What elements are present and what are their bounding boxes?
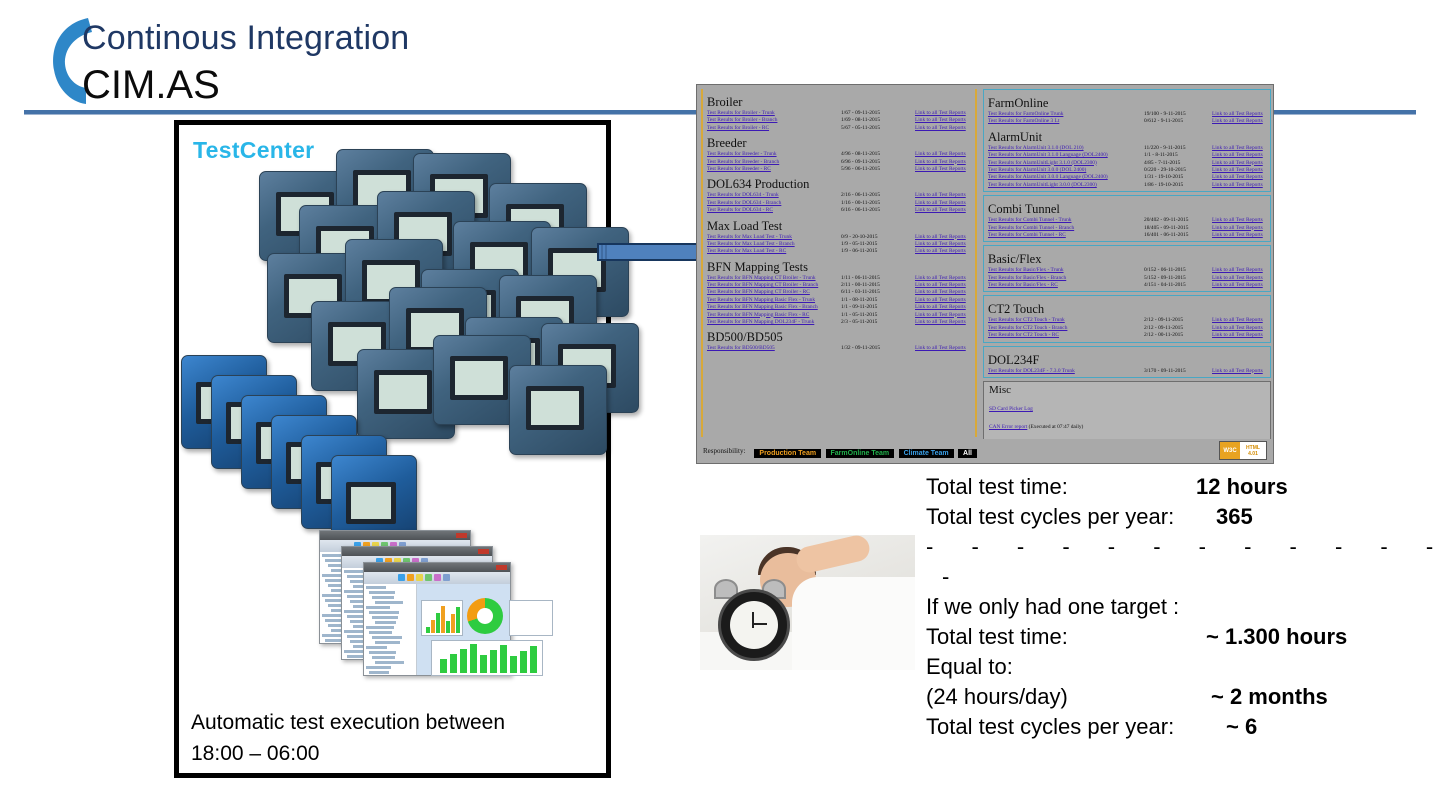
test-result-count: 1/31 - 19-10-2015 (1138, 174, 1212, 181)
report-section-title: DOL634 Production (707, 177, 971, 191)
report-row: Test Results for AlarmUnit 3.0.0 Languag… (988, 174, 1266, 181)
report-section-title: DOL234F (988, 353, 1266, 367)
test-result-count: 1/11 - 06-11-2015 (835, 275, 915, 282)
test-result-link[interactable]: Test Results for BFN Mapping DOL234F - T… (707, 319, 835, 326)
stat-row: (24 hours/day)~ 2 months (926, 682, 1426, 712)
chart-tile (421, 600, 463, 636)
all-reports-link[interactable]: Link to all Test Reports (1212, 368, 1263, 375)
all-reports-link[interactable]: Link to all Test Reports (1212, 332, 1263, 339)
test-result-count: 20/402 - 09-11-2015 (1138, 217, 1212, 224)
all-reports-link[interactable]: Link to all Test Reports (1212, 232, 1263, 239)
report-row: Test Results for Breeder - Trunk4/96 - 0… (707, 151, 971, 158)
test-result-count: 1/1 - 8-11-2015 (1138, 152, 1212, 159)
sleeper-arm (794, 535, 872, 575)
stats-bottom-rows: Total test time:~ 1.300 hoursEqual to:(2… (926, 622, 1426, 742)
test-result-link[interactable]: Test Results for Basic/Flex - Branch (988, 275, 1138, 282)
report-section-title: BFN Mapping Tests (707, 260, 971, 274)
bar-chart-tile (431, 640, 543, 676)
stat-value: ~ 6 (1226, 712, 1257, 742)
report-row: Test Results for DOL634 - RC6/16 - 06-11… (707, 207, 971, 214)
all-reports-link[interactable]: Link to all Test Reports (1212, 282, 1263, 289)
stat-label: Total test cycles per year: (926, 502, 1216, 532)
report-row: Test Results for DOL634 - Trunk2/16 - 06… (707, 192, 971, 199)
stat-label: (24 hours/day) (926, 682, 1211, 712)
stat-value: ~ 1.300 hours (1206, 622, 1347, 652)
dashboard-window (363, 562, 511, 676)
misc-row: CAN Error report (Executed at 07:47 dail… (989, 415, 1265, 433)
responsibility-tag-list: Production Team FarmOnline Team Climate … (754, 442, 977, 460)
stat-value: 12 hours (1196, 472, 1288, 502)
test-result-link[interactable]: Test Results for Broiler - Trunk (707, 110, 835, 117)
report-row: Test Results for BFN Mapping Basic Flex … (707, 312, 971, 319)
misc-link[interactable]: SD Card Picker Log (989, 406, 1033, 412)
test-result-link[interactable]: Test Results for DOL234F - 7.3.0 Trunk (988, 368, 1138, 375)
report-row: Test Results for BFN Mapping CT Broiler … (707, 275, 971, 282)
all-reports-link[interactable]: Link to all Test Reports (915, 166, 966, 173)
testcenter-panel: TestCenter Automatic test execution betw… (174, 120, 611, 778)
alarm-clock-icon (718, 589, 790, 661)
test-result-count: 0/152 - 06-11-2015 (1138, 267, 1212, 274)
report-row: Test Results for AlarmUnit 3.1.0 Languag… (988, 152, 1266, 159)
caption-line-1: Automatic test execution between (191, 707, 601, 738)
stat-value: ~ 2 months (1211, 682, 1328, 712)
test-result-count: 4/96 - 08-11-2015 (835, 151, 915, 158)
all-reports-link[interactable]: Link to all Test Reports (1212, 317, 1263, 324)
all-reports-link[interactable]: Link to all Test Reports (915, 125, 966, 132)
test-result-link[interactable]: Test Results for BFN Mapping Basic Flex … (707, 304, 835, 311)
all-reports-link[interactable]: Link to all Test Reports (915, 289, 966, 296)
test-result-count: 11/220 - 9-11-2015 (1138, 145, 1212, 152)
test-result-count: 18/405 - 09-11-2015 (1138, 225, 1212, 232)
responsibility-tag[interactable]: FarmOnline Team (826, 449, 895, 458)
report-right-column: FarmOnlineTest Results for FarmOnline Tr… (983, 89, 1271, 437)
test-result-link[interactable]: Test Results for Max Load Test - Trunk (707, 234, 835, 241)
stat-row: Total test time:12 hours (926, 472, 1426, 502)
test-result-count: 0/220 - 29-10-2015 (1138, 167, 1212, 174)
all-reports-link[interactable]: Link to all Test Reports (1212, 325, 1263, 332)
report-row: Test Results for Basic/Flex - Branch5/15… (988, 275, 1266, 282)
report-row: Test Results for AlarmUnitLight 3.0.0 (D… (988, 182, 1266, 189)
test-result-link[interactable]: Test Results for AlarmUnitLight 3.0.0 (D… (988, 182, 1138, 189)
report-row: Test Results for Max Load Test - RC1/9 -… (707, 248, 971, 255)
report-section-box: Combi TunnelTest Results for Combi Tunne… (983, 195, 1271, 242)
controller-device (509, 365, 607, 455)
test-result-link[interactable]: Test Results for FarmOnline Trunk (988, 111, 1138, 118)
all-reports-link[interactable]: Link to all Test Reports (1212, 167, 1263, 174)
stats-divider-2: - (926, 562, 1426, 592)
test-result-link[interactable]: Test Results for BFN Mapping Basic Flex … (707, 297, 835, 304)
test-result-link[interactable]: Test Results for AlarmUnitLight 3.1.0 (D… (988, 160, 1138, 167)
test-result-count: 1/1 - 05-11-2015 (835, 312, 915, 319)
report-row: Test Results for Max Load Test - Trunk0/… (707, 234, 971, 241)
w3c-badge-right: HTML 4.01 (1240, 442, 1266, 459)
report-row: Test Results for BFN Mapping CT Broiler … (707, 289, 971, 296)
report-row: Test Results for Breeder - RC5/96 - 06-1… (707, 166, 971, 173)
all-reports-link[interactable]: Link to all Test Reports (915, 234, 966, 241)
all-reports-link[interactable]: Link to all Test Reports (915, 319, 966, 326)
report-row: Test Results for Combi Tunnel - RC16/401… (988, 232, 1266, 239)
stat-label: Total test cycles per year: (926, 712, 1226, 742)
misc-title: Misc (989, 384, 1265, 397)
test-result-count: 0/9 - 20-10-2015 (835, 234, 915, 241)
report-row: Test Results for BFN Mapping Basic Flex … (707, 304, 971, 311)
test-result-link[interactable]: Test Results for AlarmUnit 3.0.0 Languag… (988, 174, 1138, 181)
report-row: Test Results for AlarmUnit 3.0.0 (DOL 24… (988, 167, 1266, 174)
test-result-link[interactable]: Test Results for BFN Mapping CT Broiler … (707, 289, 835, 296)
stat-label: Total test time: (926, 622, 1206, 652)
responsibility-label: Responsibility: (703, 447, 745, 455)
all-reports-link[interactable]: Link to all Test Reports (1212, 160, 1263, 167)
report-row: Test Results for BFN Mapping DOL234F - T… (707, 319, 971, 326)
report-section-title: Breeder (707, 136, 971, 150)
test-result-count: 4/85 - 7-11-2015 (1138, 160, 1212, 167)
test-result-count: 6/11 - 03-11-2015 (835, 289, 915, 296)
test-result-count: 1/86 - 19-10-2015 (1138, 182, 1212, 189)
report-row: Test Results for BD500/BD5051/32 - 09-11… (707, 345, 971, 352)
report-section-box: CT2 TouchTest Results for CT2 Touch - Tr… (983, 295, 1271, 342)
all-reports-link[interactable]: Link to all Test Reports (1212, 111, 1263, 118)
stat-value: 365 (1216, 502, 1253, 532)
report-section-box: FarmOnlineTest Results for FarmOnline Tr… (983, 89, 1271, 192)
test-result-link[interactable]: Test Results for BFN Mapping CT Broiler … (707, 282, 835, 289)
all-reports-link[interactable]: Link to all Test Reports (1212, 145, 1263, 152)
test-result-count: 1/9 - 06-11-2015 (835, 248, 915, 255)
clock-hand-minute (752, 612, 754, 628)
all-reports-link[interactable]: Link to all Test Reports (915, 207, 966, 214)
stat-label: Total test time: (926, 472, 1196, 502)
all-reports-link[interactable]: Link to all Test Reports (915, 241, 966, 248)
report-row: Test Results for Broiler - Trunk1/67 - 0… (707, 110, 971, 117)
test-result-link[interactable]: Test Results for DOL634 - Trunk (707, 192, 835, 199)
all-reports-link[interactable]: Link to all Test Reports (1212, 225, 1263, 232)
report-row: Test Results for Broiler - Branch1/69 - … (707, 117, 971, 124)
report-row: Test Results for Combi Tunnel - Trunk20/… (988, 217, 1266, 224)
all-reports-link[interactable]: Link to all Test Reports (915, 248, 966, 255)
test-result-link[interactable]: Test Results for BFN Mapping Basic Flex … (707, 312, 835, 319)
test-result-link[interactable]: Test Results for Broiler - Branch (707, 117, 835, 124)
report-row: Test Results for DOL234F - 7.3.0 Trunk3/… (988, 368, 1266, 375)
test-result-link[interactable]: Test Results for Combi Tunnel - Trunk (988, 217, 1138, 224)
test-result-count: 2/12 - 00-11-2015 (1138, 332, 1212, 339)
misc-link[interactable]: CAN Error report (989, 424, 1027, 430)
rack-of-controllers-photo (181, 143, 605, 533)
test-result-count: 2/12 - 09-11-2015 (1138, 325, 1212, 332)
report-row: Test Results for CT2 Touch - RC2/12 - 00… (988, 332, 1266, 339)
test-result-count: 5/67 - 05-11-2015 (835, 125, 915, 132)
report-row: Test Results for AlarmUnit 3.1.0 (DOL 21… (988, 145, 1266, 152)
test-result-link[interactable]: Test Results for Broiler - RC (707, 125, 835, 132)
test-result-link[interactable]: Test Results for Basic/Flex - Trunk (988, 267, 1138, 274)
test-result-count: 19/100 - 9-11-2015 (1138, 111, 1212, 118)
test-result-link[interactable]: Test Results for Max Load Test - RC (707, 248, 835, 255)
test-result-link[interactable]: Test Results for DOL634 - Branch (707, 200, 835, 207)
all-reports-link[interactable]: Link to all Test Reports (1212, 152, 1263, 159)
all-reports-link[interactable]: Link to all Test Reports (1212, 275, 1263, 282)
test-result-link[interactable]: Test Results for FarmOnline 3 Lt (988, 118, 1138, 125)
test-result-link[interactable]: Test Results for AlarmUnit 3.1.0 Languag… (988, 152, 1138, 159)
report-row: Test Results for BFN Mapping Basic Flex … (707, 297, 971, 304)
responsibility-tag[interactable]: Production Team (754, 449, 821, 458)
stats-intro: If we only had one target : (926, 592, 1426, 622)
report-row: Test Results for BFN Mapping CT Broiler … (707, 282, 971, 289)
test-result-count: 2/11 - 00-11-2015 (835, 282, 915, 289)
all-reports-link[interactable]: Link to all Test Reports (915, 192, 966, 199)
test-result-link[interactable]: Test Results for CT2 Touch - RC (988, 332, 1138, 339)
test-result-link[interactable]: Test Results for Combi Tunnel - Branch (988, 225, 1138, 232)
test-result-count: 2/3 - 05-11-2015 (835, 319, 915, 326)
report-row: Test Results for CT2 Touch - Branch2/12 … (988, 325, 1266, 332)
stats-divider: - - - - - - - - - - - - - - - - - (926, 532, 1426, 562)
report-row: Test Results for Basic/Flex - Trunk0/152… (988, 267, 1266, 274)
donut-chart (467, 598, 503, 634)
all-reports-link[interactable]: Link to all Test Reports (1212, 217, 1263, 224)
report-row: Test Results for FarmOnline Trunk19/100 … (988, 111, 1266, 118)
line-chart-tile (509, 600, 553, 636)
test-result-count: 1/1 - 09-11-2015 (835, 304, 915, 311)
all-reports-link[interactable]: Link to all Test Reports (915, 312, 966, 319)
all-reports-link[interactable]: Link to all Test Reports (915, 159, 966, 166)
test-result-count: 1/32 - 09-11-2015 (835, 345, 915, 352)
all-reports-link[interactable]: Link to all Test Reports (915, 304, 966, 311)
all-reports-link[interactable]: Link to all Test Reports (915, 200, 966, 207)
all-reports-link[interactable]: Link to all Test Reports (915, 110, 966, 117)
w3c-badge-left: W3C (1220, 442, 1240, 459)
test-result-count: 1/16 - 00-11-2015 (835, 200, 915, 207)
all-reports-link[interactable]: Link to all Test Reports (915, 151, 966, 158)
report-row: Test Results for DOL634 - Branch1/16 - 0… (707, 200, 971, 207)
report-section-title: FarmOnline (988, 96, 1266, 110)
report-section-title: Combi Tunnel (988, 202, 1266, 216)
report-row: Test Results for Broiler - RC5/67 - 05-1… (707, 125, 971, 132)
test-result-count: 0/612 - 9-11-2015 (1138, 118, 1212, 125)
test-result-count: 5/152 - 09-11-2015 (1138, 275, 1212, 282)
all-reports-link[interactable]: Link to all Test Reports (1212, 267, 1263, 274)
test-result-link[interactable]: Test Results for CT2 Touch - Trunk (988, 317, 1138, 324)
stats-block: Total test time:12 hoursTotal test cycle… (926, 472, 1426, 742)
report-row: Test Results for AlarmUnitLight 3.1.0 (D… (988, 160, 1266, 167)
test-result-count: 1/67 - 09-11-2015 (835, 110, 915, 117)
report-row: Test Results for Basic/Flex - RC4/151 - … (988, 282, 1266, 289)
all-reports-link[interactable]: Link to all Test Reports (1212, 182, 1263, 189)
stat-row: Equal to: (926, 652, 1426, 682)
stat-label: Equal to: (926, 652, 1206, 682)
report-row: Test Results for Max Load Test - Branch1… (707, 241, 971, 248)
test-result-count: 3/170 - 09-11-2015 (1138, 368, 1212, 375)
testcenter-caption: Automatic test execution between 18:00 –… (191, 707, 601, 769)
man-yawning-with-alarm-clock-photo (700, 535, 915, 670)
page-title: Continous Integration (82, 18, 409, 58)
test-result-link[interactable]: Test Results for CT2 Touch - Branch (988, 325, 1138, 332)
report-row: Test Results for CT2 Touch - Trunk2/12 -… (988, 317, 1266, 324)
report-row: Test Results for Breeder - Branch6/96 - … (707, 159, 971, 166)
stat-row: Total test cycles per year:~ 6 (926, 712, 1426, 742)
test-result-count: 1/69 - 08-11-2015 (835, 117, 915, 124)
test-result-link[interactable]: Test Results for Combi Tunnel - RC (988, 232, 1138, 239)
stat-row: Total test cycles per year:365 (926, 502, 1426, 532)
responsibility-tag[interactable]: All (958, 449, 977, 458)
all-reports-link[interactable]: Link to all Test Reports (1212, 174, 1263, 181)
report-left-column: BroilerTest Results for Broiler - Trunk1… (701, 89, 977, 437)
report-row: Test Results for Combi Tunnel - Branch18… (988, 225, 1266, 232)
test-result-count: 4/151 - 04-11-2015 (1138, 282, 1212, 289)
test-result-link[interactable]: Test Results for Breeder - RC (707, 166, 835, 173)
report-footer: Responsibility: Production Team FarmOnli… (697, 439, 1273, 463)
test-result-link[interactable]: Test Results for DOL634 - RC (707, 207, 835, 214)
test-result-link[interactable]: Test Results for Max Load Test - Branch (707, 241, 835, 248)
report-section-title: CT2 Touch (988, 302, 1266, 316)
brand-name: CIM.AS (82, 62, 220, 108)
misc-row: SD Card Picker Log (989, 397, 1265, 415)
test-report-page: BroilerTest Results for Broiler - Trunk1… (696, 84, 1274, 464)
report-section-title: Max Load Test (707, 219, 971, 233)
test-result-link[interactable]: Test Results for BD500/BD505 (707, 345, 835, 352)
test-result-link[interactable]: Test Results for AlarmUnit 3.0.0 (DOL 24… (988, 167, 1138, 174)
test-result-count: 5/96 - 06-11-2015 (835, 166, 915, 173)
report-section-box: Basic/FlexTest Results for Basic/Flex - … (983, 245, 1271, 292)
all-reports-link[interactable]: Link to all Test Reports (915, 275, 966, 282)
test-result-count: 2/16 - 06-11-2015 (835, 192, 915, 199)
all-reports-link[interactable]: Link to all Test Reports (915, 297, 966, 304)
test-result-count: 1/1 - 08-11-2015 (835, 297, 915, 304)
all-reports-link[interactable]: Link to all Test Reports (915, 117, 966, 124)
report-section-title: Basic/Flex (988, 252, 1266, 266)
test-result-count: 16/401 - 06-11-2015 (1138, 232, 1212, 239)
w3c-html-validator-badge[interactable]: W3C HTML 4.01 (1219, 441, 1267, 460)
test-result-count: 6/16 - 06-11-2015 (835, 207, 915, 214)
report-row: Test Results for FarmOnline 3 Lt0/612 - … (988, 118, 1266, 125)
all-reports-link[interactable]: Link to all Test Reports (1212, 118, 1263, 125)
report-section-box: DOL234FTest Results for DOL234F - 7.3.0 … (983, 346, 1271, 378)
responsibility-tag[interactable]: Climate Team (899, 449, 954, 458)
test-result-count: 1/9 - 05-11-2015 (835, 241, 915, 248)
all-reports-link[interactable]: Link to all Test Reports (915, 282, 966, 289)
report-section-title: Broiler (707, 95, 971, 109)
test-result-link[interactable]: Test Results for AlarmUnit 3.1.0 (DOL 21… (988, 145, 1138, 152)
caption-line-2: 18:00 – 06:00 (191, 738, 601, 769)
test-result-count: 6/96 - 09-11-2015 (835, 159, 915, 166)
clock-hand-hour (753, 623, 767, 625)
all-reports-link[interactable]: Link to all Test Reports (915, 345, 966, 352)
test-result-link[interactable]: Test Results for Breeder - Branch (707, 159, 835, 166)
report-section-title: AlarmUnit (988, 130, 1266, 144)
test-result-link[interactable]: Test Results for Breeder - Trunk (707, 151, 835, 158)
sleeper-body (792, 577, 915, 670)
test-result-count: 2/12 - 09-11-2015 (1138, 317, 1212, 324)
test-result-link[interactable]: Test Results for BFN Mapping CT Broiler … (707, 275, 835, 282)
report-section-title: BD500/BD505 (707, 330, 971, 344)
test-result-link[interactable]: Test Results for Basic/Flex - RC (988, 282, 1138, 289)
stats-top-rows: Total test time:12 hoursTotal test cycle… (926, 472, 1426, 532)
stat-row: Total test time:~ 1.300 hours (926, 622, 1426, 652)
stacked-dashboard-screenshots (319, 530, 509, 675)
